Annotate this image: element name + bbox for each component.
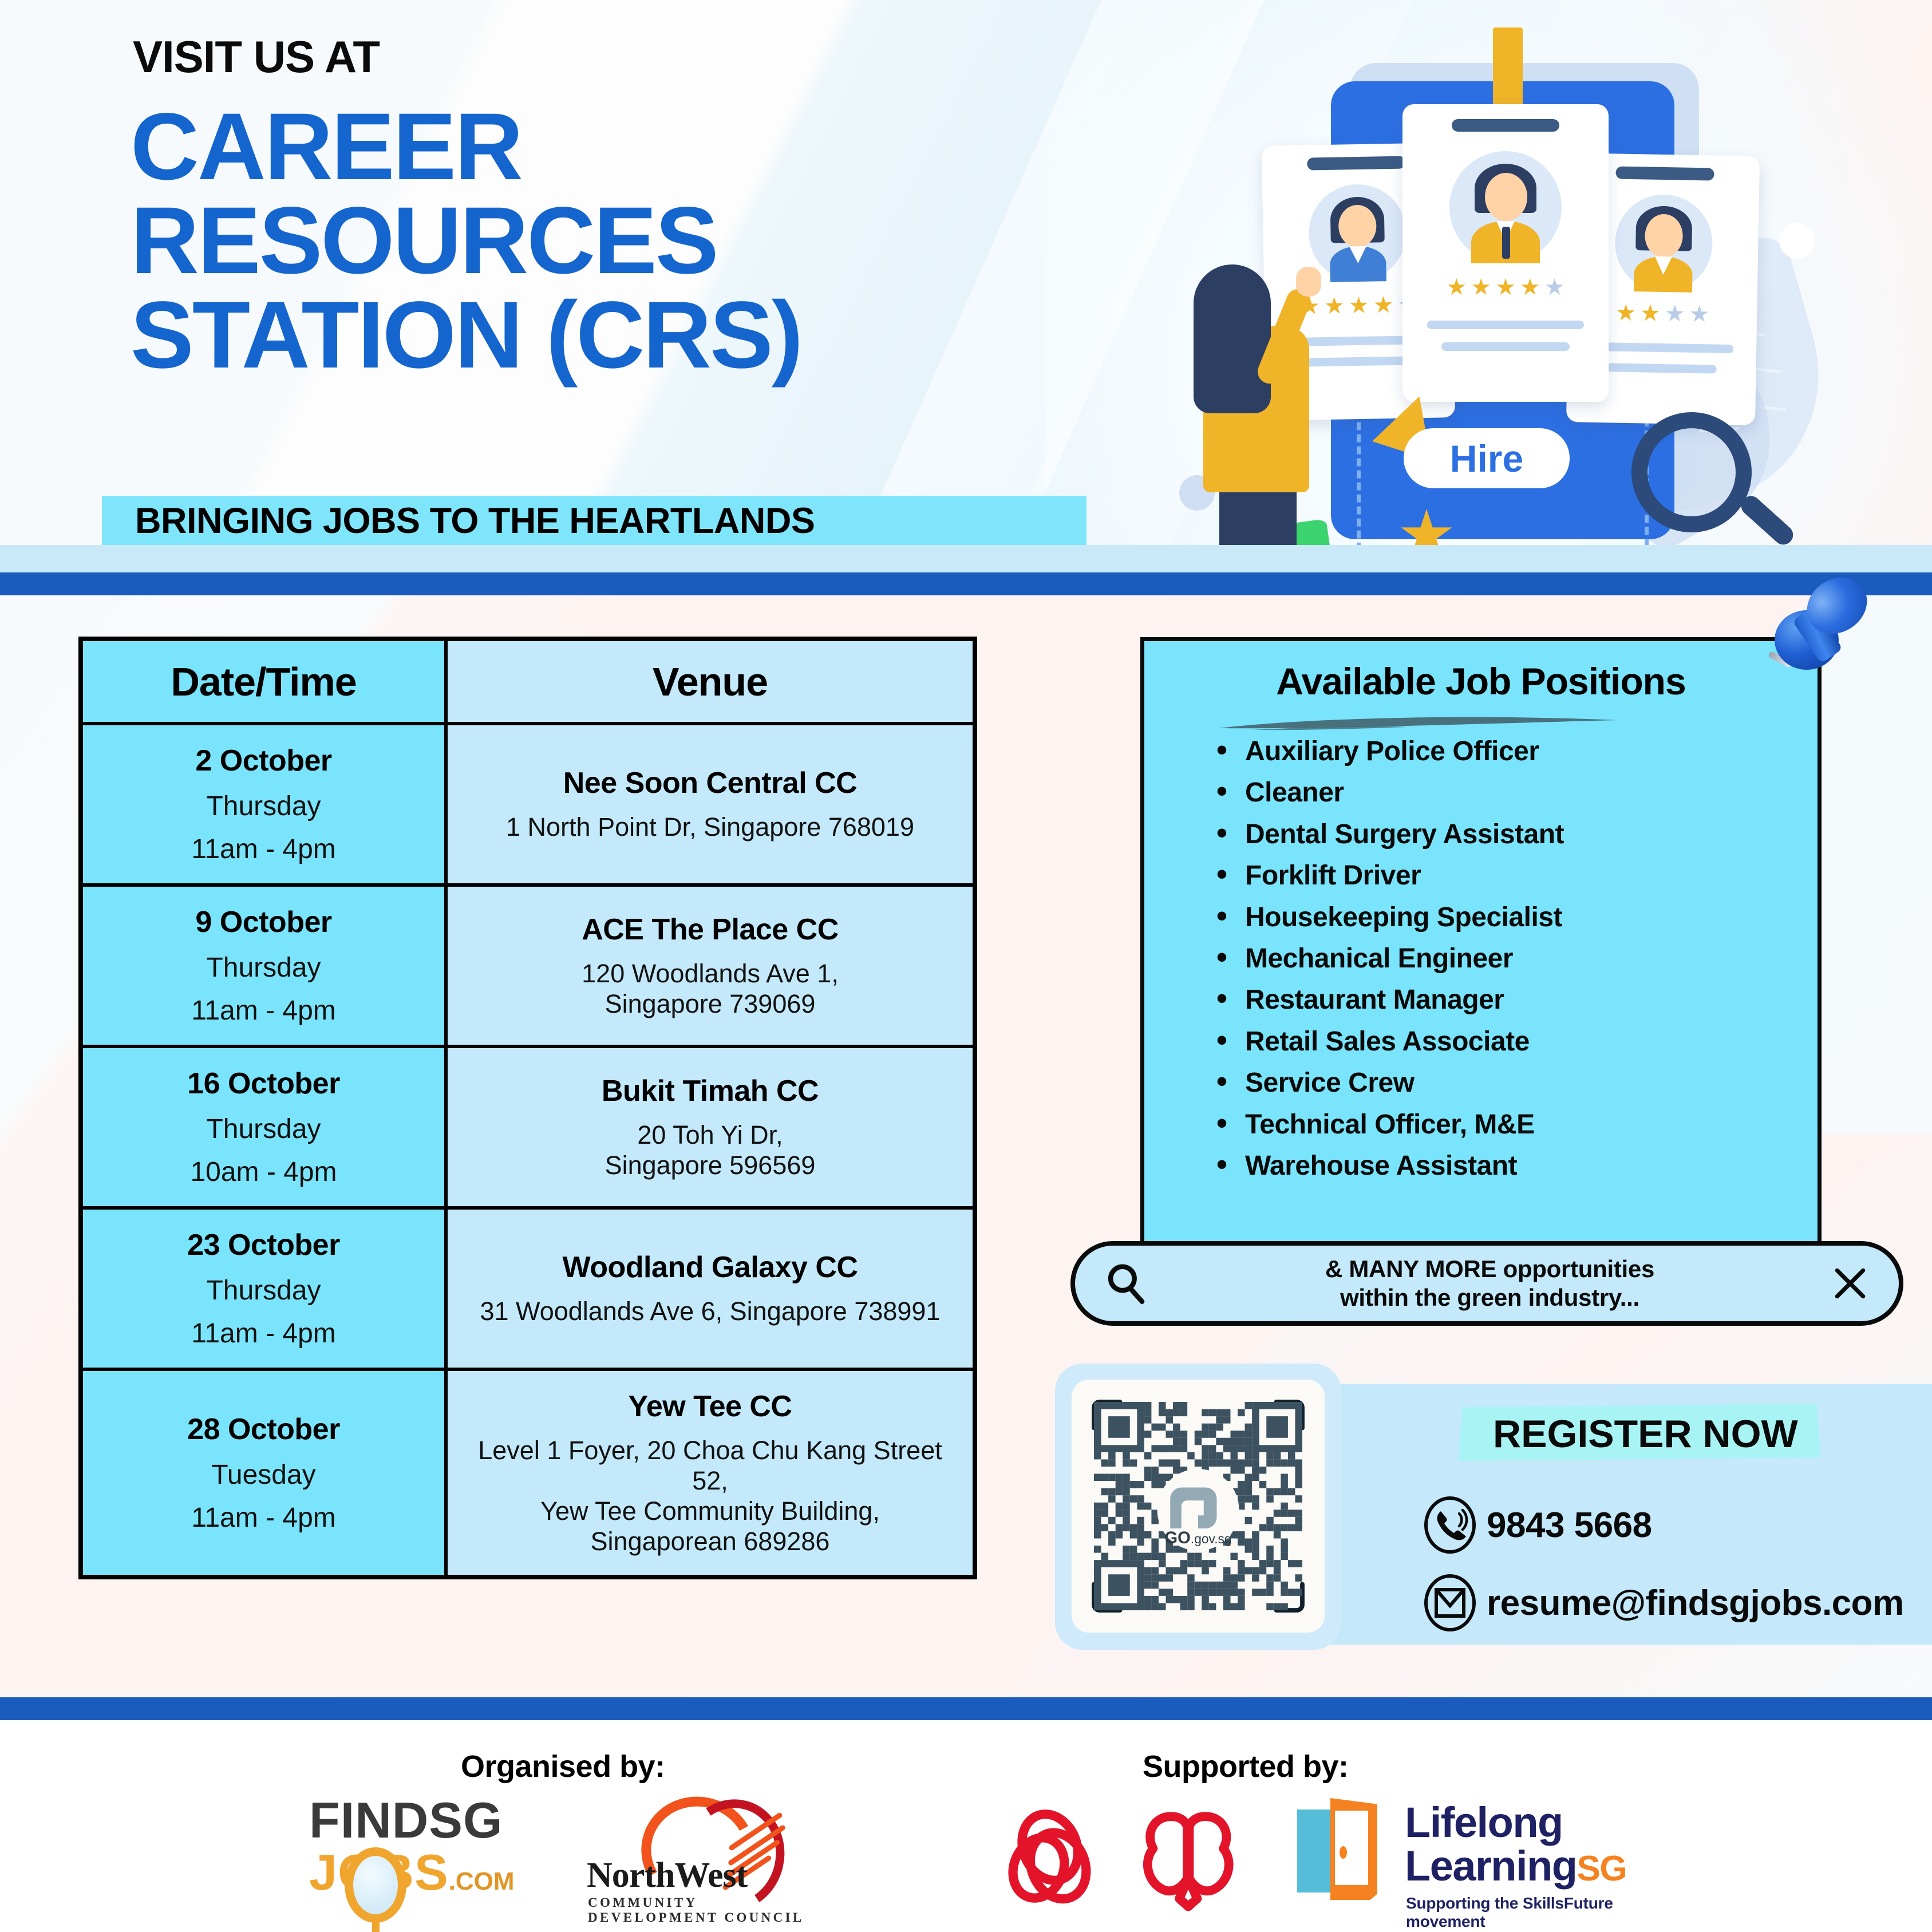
star-icon: ★	[1373, 294, 1394, 317]
job-position-item: Technical Officer, M&E	[1212, 1111, 1818, 1139]
row-time: 11am - 4pm	[97, 833, 430, 865]
footer-section: Organised by: Supported by: FINDSG JOBS.…	[0, 1720, 1932, 1932]
eyebrow-text: VISIT US AT	[133, 34, 380, 79]
row-weekday: Thursday	[97, 791, 430, 822]
job-position-item: Retail Sales Associate	[1212, 1028, 1818, 1056]
northwest-name: NorthWest	[587, 1855, 747, 1896]
row-time: 11am - 4pm	[97, 1502, 430, 1534]
row-date: 28 October	[97, 1412, 430, 1447]
star-icon: ★	[1615, 302, 1637, 325]
cell-datetime: 9 OctoberThursday11am - 4pm	[81, 885, 446, 1046]
qr-code-card[interactable]: GO.gov.sg	[1072, 1380, 1325, 1633]
cell-datetime: 16 OctoberThursday10am - 4pm	[81, 1046, 446, 1208]
divider-band-blue-top	[0, 572, 1932, 595]
row-weekday: Thursday	[97, 1275, 430, 1306]
row-date: 2 October	[97, 744, 430, 778]
job-position-item: Cleaner	[1212, 779, 1818, 807]
northwest-cdc-logo: NorthWest COMMUNITY DEVELOPMENT COUNCIL	[581, 1793, 821, 1917]
venue-name: Yew Tee CC	[461, 1389, 959, 1424]
organised-by-label: Organised by:	[461, 1749, 665, 1784]
poster-root: VISIT US AT CAREER RESOURCES STATION (CR…	[0, 0, 1932, 1932]
lll-line-2: LearningSG	[1405, 1844, 1626, 1891]
supported-by-label: Supported by:	[1143, 1749, 1348, 1784]
phone-number: 9843 5668	[1487, 1505, 1652, 1546]
qr-brand-mark: GO.gov.sg	[1164, 1529, 1231, 1547]
row-time: 10am - 4pm	[97, 1156, 430, 1188]
venue-address: 1 North Point Dr, Singapore 768019	[461, 812, 959, 842]
job-position-item: Auxiliary Police Officer	[1212, 737, 1818, 766]
star-icon: ★	[1446, 276, 1467, 299]
tagline-text: BRINGING JOBS TO THE HEARTLANDS	[135, 500, 815, 542]
lll-tagline: Supporting the SkillsFuture movement	[1406, 1894, 1693, 1931]
pushpin-icon	[1764, 577, 1873, 669]
cell-datetime: 28 OctoberTuesday11am - 4pm	[81, 1369, 446, 1577]
person-hand	[1296, 267, 1321, 297]
table-header-row: Date/Time Venue	[81, 639, 975, 724]
star-icon: ★	[1640, 302, 1661, 325]
job-position-item: Mechanical Engineer	[1212, 945, 1818, 973]
star-icon: ★	[1520, 276, 1540, 299]
magnifier-handle-icon	[372, 1917, 380, 1932]
search-bar-text: & MANY MORE opportunities within the gre…	[1148, 1255, 1831, 1311]
job-position-item: Dental Surgery Assistant	[1212, 820, 1818, 849]
qr-code-icon[interactable]: GO.gov.sg	[1086, 1394, 1310, 1618]
venue-name: Nee Soon Central CC	[461, 766, 959, 800]
cell-venue: Woodland Galaxy CC31 Woodlands Ave 6, Si…	[446, 1208, 975, 1369]
findsgjobs-top-text: FINDSG	[309, 1795, 550, 1846]
magnifier-icon	[1631, 412, 1752, 532]
table-row: 23 OctoberThursday11am - 4pmWoodland Gal…	[81, 1208, 975, 1369]
page-title: CAREER RESOURCES STATION (CRS)	[131, 100, 1046, 382]
star-icon-dim: ★	[1544, 276, 1565, 299]
row-date: 16 October	[97, 1066, 430, 1101]
column-header-venue: Venue	[446, 639, 975, 724]
cell-venue: Bukit Timah CC20 Toh Yi Dr,Singapore 596…	[446, 1046, 975, 1208]
profile-card-center: ★★ ★★ ★	[1402, 104, 1609, 402]
jobs-panel-title: Available Job Positions	[1144, 659, 1818, 703]
findsgjobs-logo: FINDSG JOBS.COM	[309, 1795, 550, 1915]
row-weekday: Thursday	[97, 1113, 430, 1145]
row-time: 11am - 4pm	[97, 995, 430, 1026]
decor-dot-white	[1779, 223, 1815, 259]
person-hair	[1194, 264, 1271, 413]
table-row: 16 OctoberThursday10am - 4pmBukit Timah …	[81, 1046, 975, 1208]
lll-line-1: Lifelong	[1405, 1800, 1563, 1845]
register-title: REGISTER NOW	[1493, 1412, 1798, 1456]
venue-address: 31 Woodlands Ave 6, Singapore 738991	[461, 1296, 959, 1326]
envelope-icon	[1424, 1574, 1476, 1631]
swoosh-underline-icon	[1218, 714, 1618, 730]
star-icon: ★	[1324, 294, 1345, 318]
hero-section: VISIT US AT CAREER RESOURCES STATION (CR…	[0, 0, 1932, 564]
search-text-line-1: & MANY MORE opportunities	[1148, 1255, 1831, 1283]
cell-venue: ACE The Place CC120 Woodlands Ave 1,Sing…	[446, 885, 975, 1046]
schedule-table: Date/Time Venue 2 OctoberThursday11am - …	[78, 637, 977, 1579]
door-knob-icon	[1340, 1846, 1347, 1859]
venue-address: Level 1 Foyer, 20 Choa Chu Kang Street 5…	[461, 1435, 959, 1556]
divider-band-light	[0, 545, 1932, 572]
venue-name: Woodland Galaxy CC	[461, 1250, 959, 1285]
title-line-1: CAREER	[131, 100, 1046, 194]
row-weekday: Thursday	[97, 952, 430, 983]
title-line-3: STATION (CRS)	[131, 289, 1046, 382]
table-row: 9 OctoberThursday11am - 4pmACE The Place…	[81, 885, 975, 1046]
search-bar[interactable]: & MANY MORE opportunities within the gre…	[1070, 1241, 1903, 1326]
table-row: 28 OctoberTuesday11am - 4pmYew Tee CCLev…	[81, 1369, 975, 1577]
job-position-item: Restaurant Manager	[1212, 986, 1818, 1014]
jobs-list: Auxiliary Police OfficerCleanerDental Su…	[1212, 737, 1818, 1180]
search-icon[interactable]	[1104, 1261, 1148, 1306]
job-position-item: Service Crew	[1212, 1069, 1818, 1097]
star-icon-dim: ★	[1664, 302, 1685, 326]
column-header-datetime: Date/Time	[81, 639, 446, 724]
cell-datetime: 23 OctoberThursday11am - 4pm	[81, 1208, 446, 1369]
email-address: resume@findsgjobs.com	[1487, 1583, 1904, 1623]
star-icon: ★	[1348, 294, 1369, 318]
hero-illustration: ★★ ★★ ★ ★★ ★★	[1168, 17, 1832, 555]
job-position-item: Forklift Driver	[1212, 862, 1818, 890]
venue-name: Bukit Timah CC	[461, 1074, 959, 1108]
hire-button[interactable]: Hire	[1404, 428, 1570, 488]
cell-datetime: 2 OctoberThursday11am - 4pm	[81, 724, 446, 885]
lifelong-learning-sg-logo: Lifelong LearningSG Supporting the Skill…	[1293, 1793, 1693, 1917]
job-position-item: Warehouse Assistant	[1212, 1152, 1818, 1180]
contact-email-row[interactable]: resume@findsgjobs.com	[1424, 1574, 1904, 1631]
close-icon[interactable]	[1831, 1265, 1869, 1302]
row-weekday: Tuesday	[97, 1459, 430, 1491]
venue-address: 120 Woodlands Ave 1,Singapore 739069	[461, 958, 959, 1019]
star-icon-dim: ★	[1689, 303, 1710, 326]
e2i-logo-icon	[1139, 1806, 1239, 1912]
row-date: 9 October	[97, 905, 430, 939]
contact-phone-row[interactable]: 9843 5668	[1424, 1496, 1652, 1554]
magnifier-lens-icon	[345, 1847, 406, 1923]
row-time: 11am - 4pm	[97, 1318, 430, 1349]
table-row: 2 OctoberThursday11am - 4pmNee Soon Cent…	[81, 724, 975, 885]
search-text-line-2: within the green industry...	[1148, 1283, 1831, 1312]
phone-icon	[1424, 1496, 1476, 1554]
title-line-2: RESOURCES	[131, 194, 1046, 288]
row-date: 23 October	[97, 1228, 430, 1262]
star-icon: ★	[1495, 276, 1516, 299]
venue-name: ACE The Place CC	[461, 912, 959, 947]
job-position-item: Housekeeping Specialist	[1212, 903, 1818, 932]
northwest-subtitle: COMMUNITY DEVELOPMENT COUNCIL	[588, 1895, 821, 1925]
cell-venue: Yew Tee CCLevel 1 Foyer, 20 Choa Chu Kan…	[446, 1369, 975, 1577]
magnifier-handle	[1737, 492, 1797, 549]
cell-venue: Nee Soon Central CC1 North Point Dr, Sin…	[446, 724, 975, 885]
available-jobs-panel: Available Job Positions Auxiliary Police…	[1140, 637, 1822, 1247]
divider-band-blue-bottom	[0, 1697, 1932, 1720]
wsg-logo-icon	[1005, 1806, 1108, 1909]
star-icon: ★	[1471, 276, 1491, 299]
venue-address: 20 Toh Yi Dr,Singapore 596569	[461, 1120, 959, 1180]
